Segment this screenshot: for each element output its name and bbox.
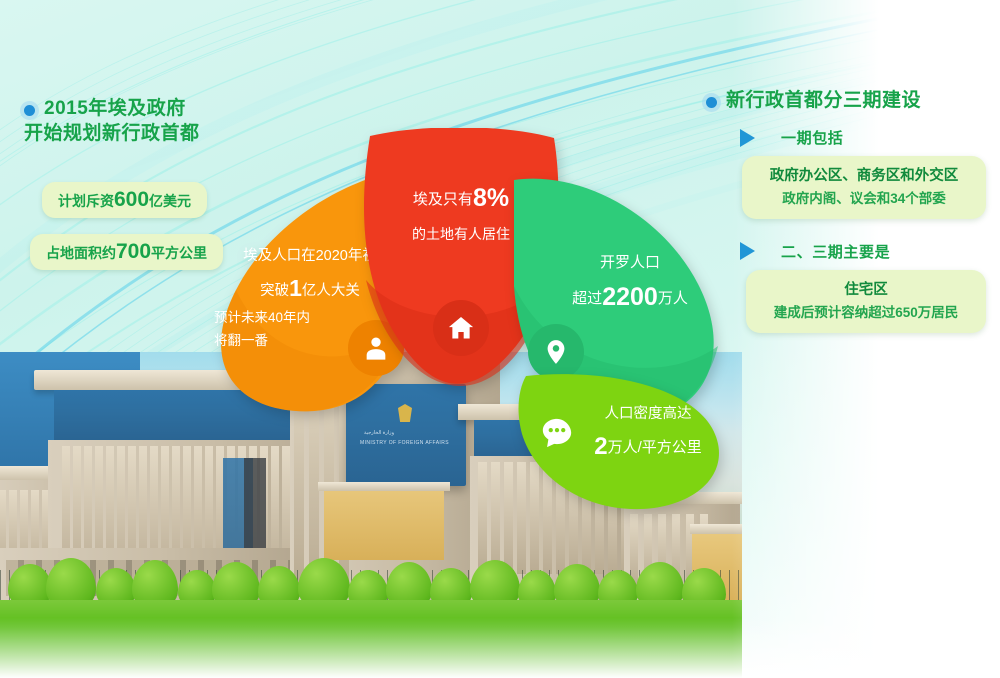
left-heading-line2: 开始规划新行政首都 (24, 121, 200, 146)
petal-lightgreen-text: 人口密度高达 2万人/平方公里 (574, 404, 722, 465)
petal-lightgreen[interactable]: 人口密度高达 2万人/平方公里 (512, 372, 724, 512)
triangle-right-icon (740, 242, 755, 260)
home-icon (447, 314, 475, 342)
phase-23-label: 二、三期主要是 (781, 241, 890, 262)
left-heading-line1: 2015年埃及政府 (44, 96, 200, 121)
left-badge-investment[interactable]: 计划斥资600亿美元 (42, 182, 207, 218)
dot-icon (24, 105, 35, 116)
phase-1-badge-line1: 政府办公区、商务区和外交区 (754, 165, 974, 188)
phase-1-badge-line2: 政府内阁、议会和34个部委 (754, 188, 974, 210)
petal-red-icon-circle (433, 300, 489, 356)
right-panel: 新行政首都分三期建设 一期包括 政府办公区、商务区和外交区 政府内阁、议会和34… (706, 88, 986, 333)
bottom-fade (0, 618, 1000, 678)
petal-lightgreen-icon-circle (532, 408, 582, 458)
phase-23-badge-line1: 住宅区 (758, 279, 974, 302)
petal-green-text: 开罗人口 超过2200万人 (530, 252, 730, 315)
triangle-right-icon (740, 129, 755, 147)
location-pin-icon (542, 338, 570, 366)
right-heading-text: 新行政首都分三期建设 (726, 88, 921, 113)
right-heading: 新行政首都分三期建设 (706, 88, 986, 113)
phase-23-badge[interactable]: 住宅区 建成后预计容纳超过650万居民 (746, 270, 986, 333)
left-badge-area[interactable]: 占地面积约700平方公里 (30, 234, 223, 270)
infographic-canvas: وزارة الخارجية MINISTRY OF FOREIGN AFFAI… (0, 0, 1000, 678)
phase-1-badge[interactable]: 政府办公区、商务区和外交区 政府内阁、议会和34个部委 (742, 156, 986, 219)
left-heading: 2015年埃及政府 开始规划新行政首都 (24, 96, 274, 146)
dot-icon (706, 97, 717, 108)
phase-23-badge-line2: 建成后预计容纳超过650万居民 (758, 302, 974, 324)
phase-23-label-row: 二、三期主要是 (740, 241, 986, 262)
phase-1-label: 一期包括 (781, 127, 843, 148)
petal-chart: 埃及人口在2020年初 突破1亿人大关 预计未来40年内 将翻一番 埃及只有 (208, 128, 728, 518)
petal-orange-subtext: 预计未来40年内 将翻一番 (214, 308, 354, 350)
phase-1-label-row: 一期包括 (740, 127, 986, 148)
speech-bubble-icon (540, 416, 574, 450)
left-panel: 2015年埃及政府 开始规划新行政首都 计划斥资600亿美元 占地面积约700平… (24, 96, 274, 270)
